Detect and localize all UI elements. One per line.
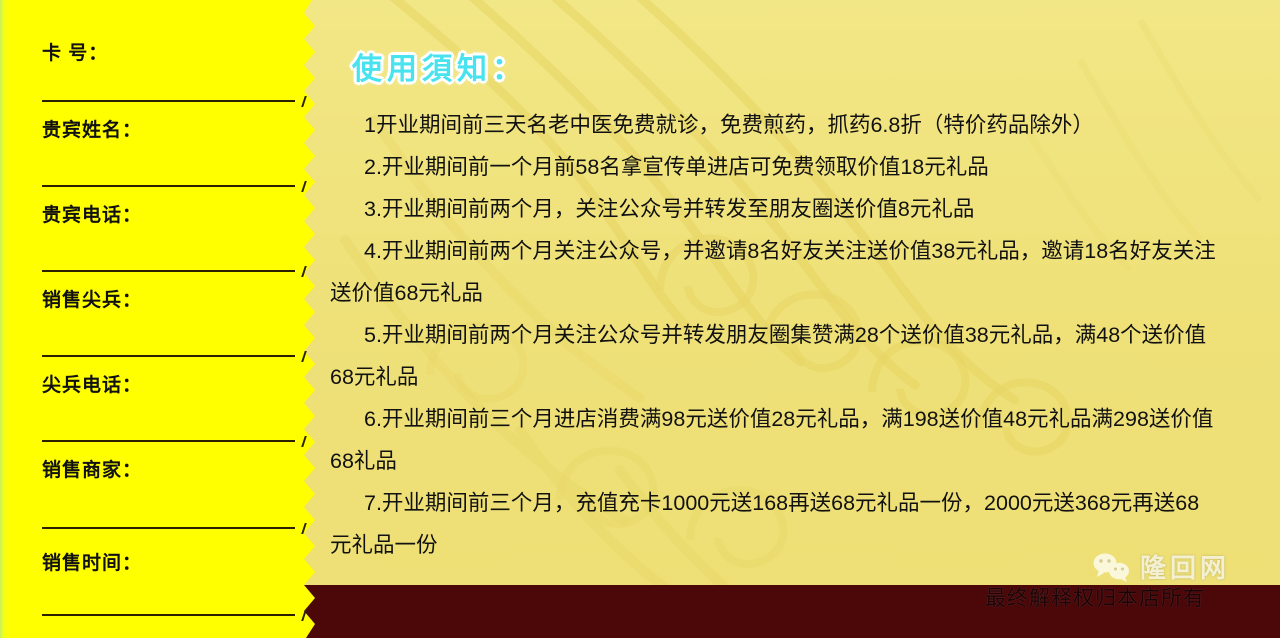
field-tick	[301, 351, 314, 362]
notice-item: 4.开业期间前两个月关注公众号，并邀请8名好友关注送价值38元礼品，邀请18名好…	[330, 230, 1220, 314]
field-rule	[42, 100, 295, 102]
membership-card-panel: 卡 号： 贵宾姓名： 贵宾电话： 销售尖兵： 尖兵电话：	[0, 0, 322, 638]
notice-item: 1开业期间前三天名老中医免费就诊，免费煎药，抓药6.8折（特价药品除外）	[330, 104, 1220, 146]
field-rule	[42, 185, 295, 187]
field-label-vip-name: 贵宾姓名：	[42, 115, 142, 142]
field-tick	[301, 266, 314, 277]
field-label-sales-agent: 销售尖兵：	[42, 285, 142, 312]
field-tick	[301, 523, 314, 534]
wechat-icon	[1092, 552, 1134, 582]
field-tick	[301, 436, 314, 447]
watermark: 隆回网	[1092, 548, 1230, 585]
field-tick	[301, 181, 314, 192]
field-rule	[42, 527, 295, 529]
notice-item: 6.开业期间前三个月进店消费满98元送价值28元礼品，满198送价值48元礼品满…	[330, 398, 1220, 482]
field-tick	[301, 610, 314, 621]
notice-title: 使用須知：	[352, 44, 527, 88]
notice-item: 3.开业期间前两个月，关注公众号并转发至朋友圈送价值8元礼品	[330, 188, 1220, 230]
poster-canvas: 隆回网 使用須知： 1开业期间前三天名老中医免费就诊，免费煎药，抓药6.8折（特…	[0, 0, 1280, 638]
field-tick	[301, 96, 314, 107]
field-label-vip-phone: 贵宾电话：	[42, 200, 142, 227]
field-label-sale-time: 销售时间：	[42, 548, 142, 575]
field-label-merchant: 销售商家：	[42, 455, 142, 482]
notice-item: 2.开业期间前一个月前58名拿宣传单进店可免费领取价值18元礼品	[330, 146, 1220, 188]
footer-disclaimer: 最终解释权归本店所有	[985, 582, 1205, 612]
notice-item: 5.开业期间前两个月关注公众号并转发朋友圈集赞满28个送价值38元礼品，满48个…	[330, 314, 1220, 398]
field-rule	[42, 355, 295, 357]
field-label-card-no: 卡 号：	[42, 38, 108, 65]
notice-list: 1开业期间前三天名老中医免费就诊，免费煎药，抓药6.8折（特价药品除外） 2.开…	[330, 104, 1220, 566]
notice-item: 7.开业期间前三个月，充值充卡1000元送168再送68元礼品一份，2000元送…	[330, 482, 1220, 566]
field-rule	[42, 440, 295, 442]
field-rule	[42, 270, 295, 272]
card-form: 卡 号： 贵宾姓名： 贵宾电话： 销售尖兵： 尖兵电话：	[0, 0, 322, 638]
field-rule	[42, 614, 295, 616]
watermark-text: 隆回网	[1140, 548, 1230, 585]
field-label-agent-phone: 尖兵电话：	[42, 370, 142, 397]
